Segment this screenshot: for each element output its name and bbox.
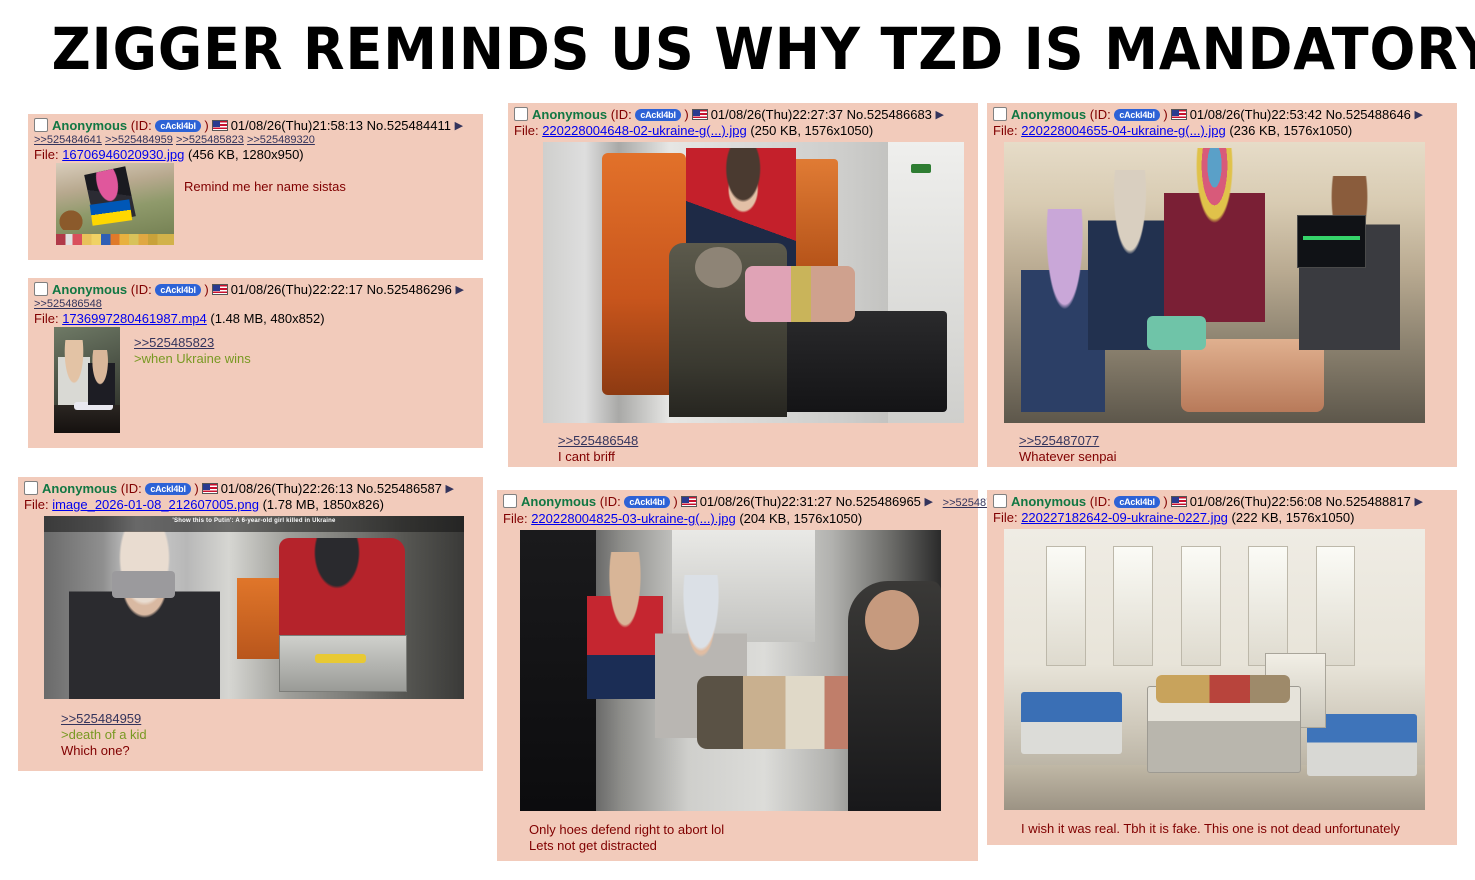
file-line: File: image_2026-01-08_212607005.png (1.… — [24, 497, 477, 513]
file-line: File: 220228004648-02-ukraine-g(...).jpg… — [514, 123, 972, 139]
post-number[interactable]: No.525486587 — [357, 481, 442, 496]
file-name-link[interactable]: 220228004655-04-ukraine-g(...).jpg — [1021, 123, 1226, 138]
post-number[interactable]: No.525486683 — [847, 107, 932, 122]
file-name-link[interactable]: 1736997280461987.mp4 — [62, 311, 207, 326]
post-comment: I wish it was real. Tbh it is fake. This… — [1021, 821, 1451, 837]
id-label: ID: — [1094, 107, 1111, 122]
quote-link[interactable]: >>525484959 — [61, 711, 477, 727]
post-525486965[interactable]: Anonymous (ID: cAckl4bl )01/08/26(Thu)22… — [497, 490, 978, 861]
post-comment: >>525486548 I cant briff — [558, 433, 972, 465]
poster-id-badge[interactable]: cAckl4bl — [1114, 496, 1159, 508]
post-525486587[interactable]: Anonymous (ID: cAckl4bl )01/08/26(Thu)22… — [18, 477, 483, 771]
quote-link[interactable]: >>525487077 — [1019, 433, 1451, 449]
poster-name: Anonymous — [52, 118, 127, 133]
post-image[interactable] — [543, 142, 972, 423]
backlink[interactable]: >>525486548 — [34, 298, 102, 310]
file-name-link[interactable]: 220228004648-02-ukraine-g(...).jpg — [542, 123, 747, 138]
post-timestamp: 01/08/26(Thu)22:56:08 — [1190, 494, 1322, 509]
poster-name: Anonymous — [42, 481, 117, 496]
id-label: ID: — [615, 107, 632, 122]
post-image[interactable]: 'Show this to Putin': A 6-year-old girl … — [44, 516, 477, 699]
file-label: File: — [503, 511, 528, 526]
backlink[interactable]: >>525484641 — [34, 134, 102, 146]
post-525484411[interactable]: Anonymous (ID: cAckl4bl )01/08/26(Thu)21… — [28, 114, 483, 260]
poster-id-badge[interactable]: cAckl4bl — [155, 120, 200, 132]
us-flag-icon — [1171, 496, 1187, 507]
us-flag-icon — [692, 109, 708, 120]
post-timestamp: 01/08/26(Thu)22:27:37 — [711, 107, 843, 122]
file-line: File: 220228004655-04-ukraine-g(...).jpg… — [993, 123, 1451, 139]
id-label: ID: — [125, 481, 142, 496]
post-header: Anonymous (ID: cAckl4bl )01/08/26(Thu)21… — [34, 118, 477, 134]
post-select-checkbox[interactable] — [993, 107, 1007, 121]
comment-line: Lets not get distracted — [529, 838, 972, 854]
poster-id-badge[interactable]: cAckl4bl — [635, 109, 680, 121]
file-label: File: — [34, 147, 59, 162]
file-label: File: — [993, 510, 1018, 525]
file-label: File: — [514, 123, 539, 138]
poster-name: Anonymous — [1011, 494, 1086, 509]
post-image[interactable] — [1004, 529, 1451, 810]
comment-line: Remind me her name sistas — [184, 179, 346, 194]
id-close-paren: ) — [191, 481, 199, 496]
post-select-checkbox[interactable] — [34, 282, 48, 296]
poster-id-badge[interactable]: cAckl4bl — [624, 496, 669, 508]
post-525488817[interactable]: Anonymous (ID: cAckl4bl )01/08/26(Thu)22… — [987, 490, 1457, 845]
id-close-paren: ) — [681, 107, 689, 122]
id-open-paren: ( — [1086, 107, 1094, 122]
post-number[interactable]: No.525488646 — [1326, 107, 1411, 122]
backlink[interactable]: >>525489320 — [247, 134, 315, 146]
backlinks-row: >>525484641 >>525484959 >>525485823 >>52… — [34, 134, 477, 147]
poster-id-badge[interactable]: cAckl4bl — [1114, 109, 1159, 121]
id-close-paren: ) — [1160, 494, 1168, 509]
post-image[interactable] — [1004, 142, 1451, 423]
comment-line: I cant briff — [558, 449, 972, 465]
file-info: (1.78 MB, 1850x826) — [263, 497, 384, 512]
id-label: ID: — [1094, 494, 1111, 509]
comment-line: I wish it was real. Tbh it is fake. This… — [1021, 821, 1451, 837]
post-select-checkbox[interactable] — [993, 494, 1007, 508]
reply-arrow-icon[interactable]: ▶ — [925, 496, 933, 508]
post-timestamp: 01/08/26(Thu)21:58:13 — [231, 118, 363, 133]
backlinks-row: >>525486548 — [34, 298, 477, 311]
post-header: Anonymous (ID: cAckl4bl )01/08/26(Thu)22… — [993, 107, 1451, 123]
poster-name: Anonymous — [1011, 107, 1086, 122]
file-info: (222 KB, 1576x1050) — [1232, 510, 1355, 525]
poster-name: Anonymous — [52, 282, 127, 297]
reply-arrow-icon[interactable]: ▶ — [936, 109, 944, 121]
file-name-link[interactable]: 220227182642-09-ukraine-0227.jpg — [1021, 510, 1228, 525]
image-caption-overlay: 'Show this to Putin': A 6-year-old girl … — [44, 516, 464, 532]
post-comment: >>525484959 >death of a kid Which one? — [61, 711, 477, 759]
reply-arrow-icon[interactable]: ▶ — [455, 120, 463, 132]
post-timestamp: 01/08/26(Thu)22:22:17 — [231, 282, 363, 297]
post-timestamp: 01/08/26(Thu)22:53:42 — [1190, 107, 1322, 122]
post-timestamp: 01/08/26(Thu)22:26:13 — [221, 481, 353, 496]
reply-arrow-icon[interactable]: ▶ — [456, 284, 464, 296]
file-name-link[interactable]: 220228004825-03-ukraine-g(...).jpg — [531, 511, 736, 526]
post-525486296[interactable]: Anonymous (ID: cAckl4bl )01/08/26(Thu)22… — [28, 278, 483, 448]
id-open-paren: ( — [117, 481, 125, 496]
post-number[interactable]: No.525486296 — [367, 282, 452, 297]
us-flag-icon — [681, 496, 697, 507]
post-number[interactable]: No.525486965 — [836, 494, 921, 509]
us-flag-icon — [1171, 109, 1187, 120]
post-select-checkbox[interactable] — [34, 118, 48, 132]
post-comment: Only hoes defend right to abort lol Lets… — [529, 822, 972, 854]
backlink[interactable]: >>525484959 — [105, 134, 173, 146]
id-close-paren: ) — [201, 282, 209, 297]
file-line: File: 220228004825-03-ukraine-g(...).jpg… — [503, 511, 972, 527]
backlink[interactable]: >>525485823 — [176, 134, 244, 146]
post-select-checkbox[interactable] — [503, 494, 517, 508]
file-line: File: 220227182642-09-ukraine-0227.jpg (… — [993, 510, 1451, 526]
poster-id-badge[interactable]: cAckl4bl — [155, 284, 200, 296]
file-label: File: — [34, 311, 59, 326]
post-header: Anonymous (ID: cAckl4bl )01/08/26(Thu)22… — [34, 282, 477, 298]
us-flag-icon — [212, 284, 228, 295]
post-select-checkbox[interactable] — [24, 481, 38, 495]
post-comment: >>525487077 Whatever senpai — [1019, 433, 1451, 465]
post-thumbnail[interactable] — [54, 327, 120, 433]
post-number[interactable]: No.525488817 — [1326, 494, 1411, 509]
file-line: File: 1736997280461987.mp4 (1.48 MB, 480… — [34, 311, 477, 327]
post-select-checkbox[interactable] — [514, 107, 528, 121]
post-header: Anonymous (ID: cAckl4bl )01/08/26(Thu)22… — [503, 494, 972, 511]
greentext-line: >death of a kid — [61, 727, 477, 743]
file-line: File: 16706946020930.jpg (456 KB, 1280x9… — [34, 147, 477, 163]
comment-line: Only hoes defend right to abort lol — [529, 822, 972, 838]
id-close-paren: ) — [670, 494, 678, 509]
post-image[interactable] — [520, 530, 972, 811]
post-525486683[interactable]: Anonymous (ID: cAckl4bl )01/08/26(Thu)22… — [508, 103, 978, 467]
post-header: Anonymous (ID: cAckl4bl )01/08/26(Thu)22… — [993, 494, 1451, 510]
id-label: ID: — [604, 494, 621, 509]
post-number[interactable]: No.525484411 — [367, 118, 451, 133]
comment-line: Which one? — [61, 743, 477, 759]
file-label: File: — [24, 497, 49, 512]
id-open-paren: ( — [1086, 494, 1094, 509]
file-label: File: — [993, 123, 1018, 138]
file-info: (204 KB, 1576x1050) — [739, 511, 862, 526]
reply-arrow-icon[interactable]: ▶ — [446, 483, 454, 495]
file-info: (456 KB, 1280x950) — [188, 147, 304, 162]
poster-name: Anonymous — [521, 494, 596, 509]
file-name-link[interactable]: 16706946020930.jpg — [62, 147, 184, 162]
reply-arrow-icon[interactable]: ▶ — [1415, 496, 1423, 508]
quote-link[interactable]: >>525486548 — [558, 433, 972, 449]
poster-name: Anonymous — [532, 107, 607, 122]
id-open-paren: ( — [127, 282, 135, 297]
id-open-paren: ( — [596, 494, 604, 509]
file-info: (236 KB, 1576x1050) — [1229, 123, 1352, 138]
id-close-paren: ) — [201, 118, 209, 133]
poster-id-badge[interactable]: cAckl4bl — [145, 483, 190, 495]
file-info: (1.48 MB, 480x852) — [210, 311, 324, 326]
file-info: (250 KB, 1576x1050) — [750, 123, 873, 138]
id-label: ID: — [135, 118, 152, 133]
post-header: Anonymous (ID: cAckl4bl )01/08/26(Thu)22… — [514, 107, 972, 123]
reply-arrow-icon[interactable]: ▶ — [1415, 109, 1423, 121]
file-name-link[interactable]: image_2026-01-08_212607005.png — [52, 497, 259, 512]
comment-line: Whatever senpai — [1019, 449, 1451, 465]
us-flag-icon — [202, 483, 218, 494]
post-525488646[interactable]: Anonymous (ID: cAckl4bl )01/08/26(Thu)22… — [987, 103, 1457, 467]
id-open-paren: ( — [127, 118, 135, 133]
id-label: ID: — [135, 282, 152, 297]
us-flag-icon — [212, 120, 228, 131]
page-title: ZIGGER REMINDS US WHY TZD IS MANDATORY — [52, 14, 1424, 84]
post-timestamp: 01/08/26(Thu)22:31:27 — [700, 494, 832, 509]
id-open-paren: ( — [607, 107, 615, 122]
post-header: Anonymous (ID: cAckl4bl )01/08/26(Thu)22… — [24, 481, 477, 497]
post-thumbnail[interactable] — [56, 163, 174, 245]
id-close-paren: ) — [1160, 107, 1168, 122]
